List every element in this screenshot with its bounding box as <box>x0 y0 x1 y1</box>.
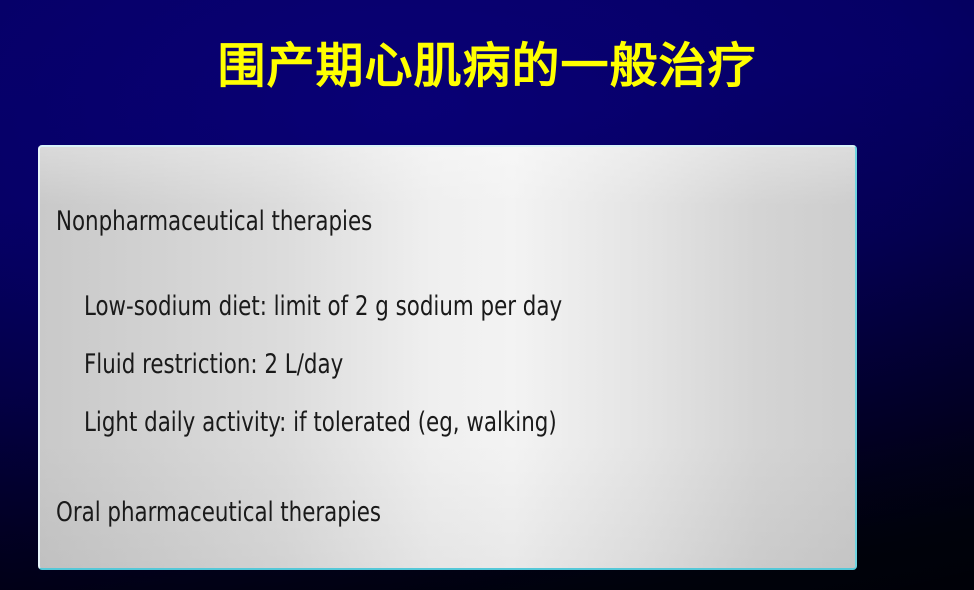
section-heading-nonpharmaceutical: Nonpharmaceutical therapies <box>56 207 372 237</box>
presentation-slide: 围产期心肌病的一般治疗 Nonpharmaceutical therapies … <box>0 0 974 590</box>
content-panel-inner: Nonpharmaceutical therapies Low-sodium d… <box>40 147 855 568</box>
slide-title: 围产期心肌病的一般治疗 <box>0 36 974 96</box>
list-item-low-sodium-diet: Low-sodium diet: limit of 2 g sodium per… <box>84 292 562 322</box>
list-item-light-daily-activity: Light daily activity: if tolerated (eg, … <box>84 408 557 438</box>
section-heading-oral-pharmaceutical: Oral pharmaceutical therapies <box>56 498 381 528</box>
content-panel: Nonpharmaceutical therapies Low-sodium d… <box>38 145 857 570</box>
list-item-fluid-restriction: Fluid restriction: 2 L/day <box>84 350 343 380</box>
